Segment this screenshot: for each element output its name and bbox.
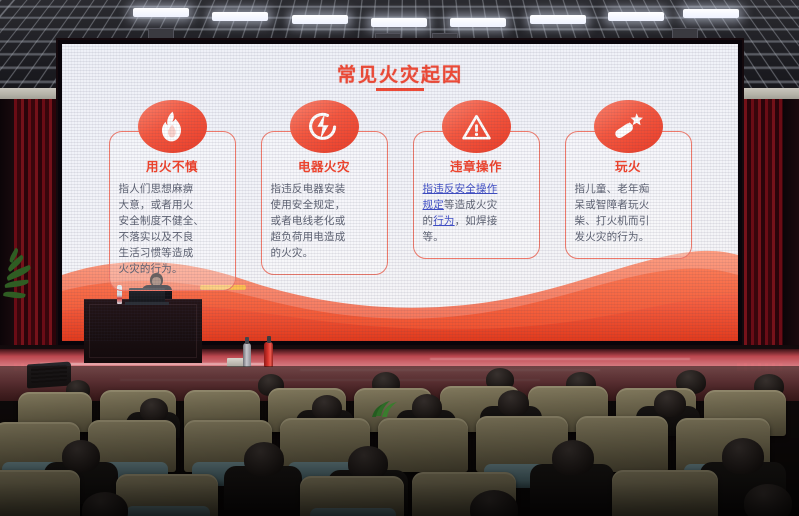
ceiling-light: [530, 15, 586, 24]
audience-head: [498, 390, 529, 416]
podium: [84, 299, 202, 363]
audience-seat[interactable]: [0, 470, 80, 516]
cause-card-text: 指人们思想麻痹 大意，或者用火 安全制度不健全、 不落实以及不良 生活习惯等造成…: [119, 182, 226, 278]
audience-head: [62, 440, 100, 472]
title-underline: [376, 88, 424, 91]
cause-card-row: 用火不慎 指人们思想麻痹 大意，或者用火 安全制度不健全、 不落实以及不良 生活…: [62, 100, 738, 291]
ceiling-light: [450, 18, 506, 27]
audience-seat-cushion: [310, 508, 396, 516]
cause-card-title: 用火不慎: [119, 156, 226, 175]
audience-seat-cushion: [126, 506, 210, 516]
ceiling-light: [371, 18, 427, 27]
ceiling-light: [608, 12, 664, 21]
auditorium-scene: 常见火灾起因 用火不慎 指人们思想麻痹: [0, 0, 799, 516]
audience-head: [140, 398, 168, 422]
firecracker-icon: [594, 100, 663, 153]
cause-card[interactable]: 电器火灾 指违反电器安装 使用安全规定， 或者电线老化或 超负荷用电造成 的火灾…: [261, 100, 388, 291]
audience-head: [744, 484, 792, 516]
cause-card-text: 指违反电器安装 使用安全规定， 或者电线老化或 超负荷用电造成 的火灾。: [271, 182, 378, 262]
audience-head: [654, 390, 686, 417]
cause-card-link[interactable]: 指违反安全操作: [423, 183, 498, 195]
cause-card[interactable]: 用火不慎 指人们思想麻痹 大意，或者用火 安全制度不健全、 不落实以及不良 生活…: [109, 100, 236, 291]
audience-head: [348, 446, 388, 480]
audience-head: [244, 442, 284, 476]
cause-card-title: 违章操作: [423, 156, 530, 175]
cause-card-title: 电器火灾: [271, 156, 378, 175]
cause-card-title: 玩火: [575, 156, 682, 175]
audience-head: [312, 395, 342, 420]
ceiling-light: [292, 15, 348, 24]
audience-seating-area: [0, 366, 799, 516]
ceiling-light: [212, 12, 268, 21]
cause-card-link[interactable]: 规定: [423, 199, 444, 211]
grey-fire-extinguisher: [243, 343, 251, 367]
ceiling-light: [133, 8, 189, 17]
right-stage-curtain: [737, 99, 787, 371]
aisle-plant: [372, 392, 406, 418]
cause-card-text: 指违反安全操作 规定等造成火灾 的行为，如焊接 等。: [423, 182, 530, 246]
cause-card-link[interactable]: 行为: [433, 215, 454, 227]
cause-card[interactable]: 违章操作 指违反安全操作 规定等造成火灾 的行为，如焊接 等。: [413, 100, 540, 291]
cause-card[interactable]: 玩火 指儿童、老年痴 呆或智障者玩火 柴、打火机而引 发火灾的行为。: [565, 100, 692, 291]
podium-front-panel: [89, 304, 197, 358]
audience-seat[interactable]: [378, 418, 468, 472]
warning-triangle-icon: [442, 100, 511, 153]
cause-card-text: 指儿童、老年痴 呆或智障者玩火 柴、打火机而引 发火灾的行为。: [575, 182, 682, 246]
lightning-bolt-icon: [290, 100, 359, 153]
left-stage-curtain: [14, 99, 60, 371]
audience-head: [412, 394, 442, 420]
audience-head: [552, 440, 594, 475]
ceiling-light: [683, 9, 739, 18]
right-wall-shadow: [783, 99, 799, 371]
slide-title: 常见火灾起因: [62, 60, 738, 87]
stage-plant: [2, 246, 42, 306]
flame-icon: [138, 100, 207, 153]
audience-seat[interactable]: [612, 470, 718, 516]
audience-head: [722, 438, 764, 474]
cause-card-body: 用火不慎 指人们思想麻痹 大意，或者用火 安全制度不健全、 不落实以及不良 生活…: [109, 131, 236, 291]
red-fire-extinguisher: [264, 342, 273, 367]
laptop-base: [125, 302, 169, 305]
